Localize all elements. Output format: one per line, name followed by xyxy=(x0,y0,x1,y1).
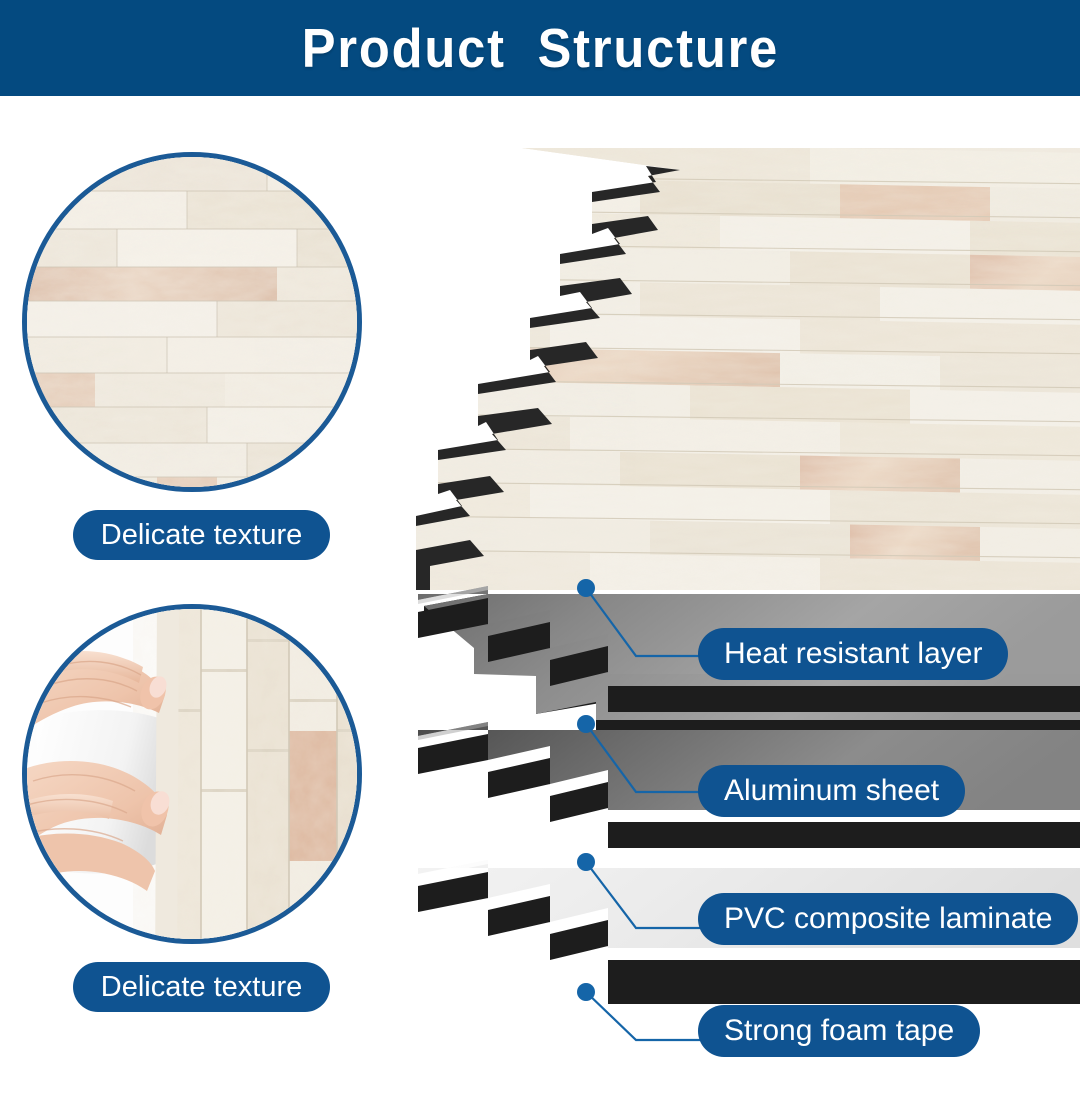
anchor-dot-aluminum xyxy=(577,715,595,733)
anchor-dot-pvc xyxy=(577,853,595,871)
anchor-dot-heat xyxy=(577,579,595,597)
callout-label-strong-foam-tape: Strong foam tape xyxy=(698,1005,980,1057)
feature-label-delicate-texture-bottom: Delicate texture xyxy=(73,962,330,1012)
anchor-dot-foam xyxy=(577,983,595,1001)
header-banner: Product Structure xyxy=(0,0,1080,96)
page-title: Product Structure xyxy=(301,16,778,80)
feature-label-delicate-texture-top: Delicate texture xyxy=(73,510,330,560)
callout-label-pvc-composite-laminate: PVC composite laminate xyxy=(698,893,1078,945)
callout-label-aluminum-sheet: Aluminum sheet xyxy=(698,765,965,817)
stone-mosaic-illustration xyxy=(27,157,362,492)
feature-card-delicate-texture-top: Delicate texture xyxy=(22,152,362,560)
photo-circle-hands-applying-tile xyxy=(22,604,362,944)
hands-peel-illustration xyxy=(27,609,362,944)
callout-leader-lines xyxy=(410,120,1080,1120)
callout-anchor-dots xyxy=(577,579,595,1001)
feature-card-delicate-texture-bottom: Delicate texture xyxy=(22,604,362,1012)
callout-label-heat-resistant-layer: Heat resistant layer xyxy=(698,628,1008,680)
photo-circle-stone-texture xyxy=(22,152,362,492)
